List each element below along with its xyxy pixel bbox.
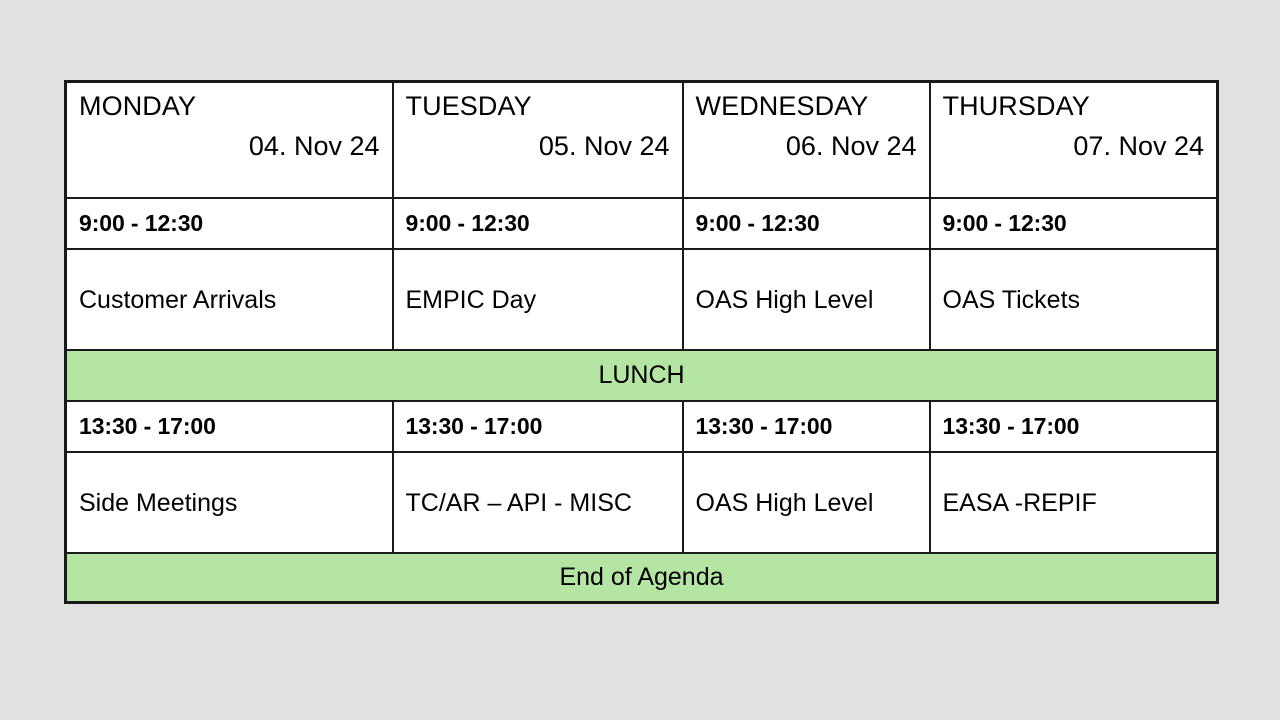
day-date-wednesday: 06. Nov 24 <box>696 129 917 163</box>
day-date-monday: 04. Nov 24 <box>79 129 380 163</box>
morning-session-monday[interactable]: Customer Arrivals <box>66 249 393 350</box>
day-header-tuesday[interactable]: TUESDAY 05. Nov 24 <box>393 82 683 199</box>
morning-session-row: Customer Arrivals EMPIC Day OAS High Lev… <box>66 249 1218 350</box>
morning-time-monday[interactable]: 9:00 - 12:30 <box>66 198 393 249</box>
day-name-monday: MONDAY <box>79 89 380 123</box>
morning-session-thursday[interactable]: OAS Tickets <box>930 249 1218 350</box>
day-name-thursday: THURSDAY <box>943 89 1205 123</box>
lunch-row: LUNCH <box>66 350 1218 401</box>
weekly-agenda-table: MONDAY 04. Nov 24 TUESDAY 05. Nov 24 WED… <box>64 80 1219 604</box>
afternoon-time-monday[interactable]: 13:30 - 17:00 <box>66 401 393 452</box>
day-header-monday[interactable]: MONDAY 04. Nov 24 <box>66 82 393 199</box>
day-header-row: MONDAY 04. Nov 24 TUESDAY 05. Nov 24 WED… <box>66 82 1218 199</box>
afternoon-session-row: Side Meetings TC/AR – API - MISC OAS Hig… <box>66 452 1218 553</box>
afternoon-session-tuesday[interactable]: TC/AR – API - MISC <box>393 452 683 553</box>
morning-time-thursday[interactable]: 9:00 - 12:30 <box>930 198 1218 249</box>
slide-canvas: MONDAY 04. Nov 24 TUESDAY 05. Nov 24 WED… <box>0 0 1280 720</box>
day-date-thursday: 07. Nov 24 <box>943 129 1205 163</box>
afternoon-time-tuesday[interactable]: 13:30 - 17:00 <box>393 401 683 452</box>
afternoon-time-wednesday[interactable]: 13:30 - 17:00 <box>683 401 930 452</box>
afternoon-time-row: 13:30 - 17:00 13:30 - 17:00 13:30 - 17:0… <box>66 401 1218 452</box>
morning-session-tuesday[interactable]: EMPIC Day <box>393 249 683 350</box>
day-name-wednesday: WEDNESDAY <box>696 89 917 123</box>
morning-session-wednesday[interactable]: OAS High Level <box>683 249 930 350</box>
afternoon-session-monday[interactable]: Side Meetings <box>66 452 393 553</box>
day-date-tuesday: 05. Nov 24 <box>406 129 670 163</box>
afternoon-time-thursday[interactable]: 13:30 - 17:00 <box>930 401 1218 452</box>
morning-time-row: 9:00 - 12:30 9:00 - 12:30 9:00 - 12:30 9… <box>66 198 1218 249</box>
morning-time-tuesday[interactable]: 9:00 - 12:30 <box>393 198 683 249</box>
end-of-agenda-band: End of Agenda <box>66 553 1218 603</box>
day-name-tuesday: TUESDAY <box>406 89 670 123</box>
morning-time-wednesday[interactable]: 9:00 - 12:30 <box>683 198 930 249</box>
day-header-wednesday[interactable]: WEDNESDAY 06. Nov 24 <box>683 82 930 199</box>
end-row: End of Agenda <box>66 553 1218 603</box>
lunch-band: LUNCH <box>66 350 1218 401</box>
day-header-thursday[interactable]: THURSDAY 07. Nov 24 <box>930 82 1218 199</box>
afternoon-session-thursday[interactable]: EASA -REPIF <box>930 452 1218 553</box>
afternoon-session-wednesday[interactable]: OAS High Level <box>683 452 930 553</box>
